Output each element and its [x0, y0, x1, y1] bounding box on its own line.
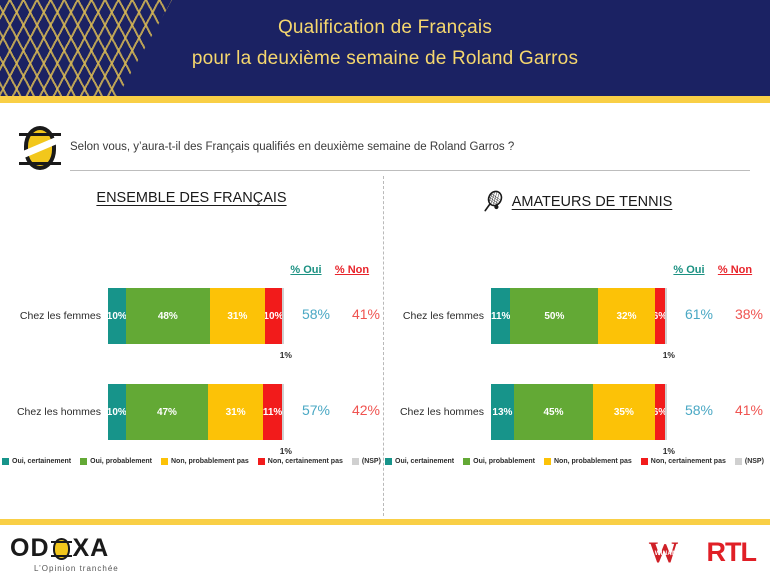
odoxa-shield-bar-top: [19, 133, 61, 136]
panel-ensemble-des-francais: ENSEMBLE DES FRANÇAIS % Oui % Non Chez l…: [0, 176, 383, 476]
legend-label: (NSP): [362, 458, 381, 465]
row-totals: 57% 42%: [284, 384, 386, 418]
bar-segment-oui-probablement: 48%: [126, 288, 210, 344]
bar-segment-non-certainement-pas: 6%: [655, 288, 666, 344]
column-header-non: % Non: [717, 264, 753, 276]
legend-item-nsp: (NSP): [352, 458, 381, 465]
odoxa-shield-icon-small: [51, 536, 72, 561]
nsp-value-label: 1%: [663, 350, 675, 360]
legend-item-oui-certainement: Oui, certainement: [2, 458, 71, 465]
legend-swatch-icon: [258, 458, 265, 465]
bar-segment-nsp: [282, 384, 284, 440]
total-non: 41%: [729, 402, 769, 418]
legend-item-non-certainement-pas: Non, certainement pas: [641, 458, 726, 465]
nsp-value-label: 1%: [280, 350, 292, 360]
bar-segment-oui-certainement: 10%: [108, 288, 126, 344]
partner-logos: W WINAMAX RTL: [649, 537, 756, 568]
legend-swatch-icon: [161, 458, 168, 465]
legend-item-non-probablement-pas: Non, probablement pas: [544, 458, 632, 465]
stacked-bar[interactable]: 10% 47% 31% 11% 1%: [108, 384, 284, 440]
legend-label: Non, certainement pas: [651, 458, 726, 465]
legend-label: Oui, certainement: [12, 458, 71, 465]
question-divider: [70, 170, 750, 171]
winamax-name: WINAMAX: [649, 551, 693, 557]
odoxa-brand-pre: OD: [10, 534, 50, 563]
page-footer: OD XA L’Opinion tranchée W WINAMAX RTL: [0, 525, 770, 575]
odoxa-shield-bar-top-small: [51, 541, 72, 543]
row-totals: 58% 41%: [284, 288, 386, 322]
legend-label: Non, probablement pas: [171, 458, 249, 465]
bar-segment-non-certainement-pas: 11%: [263, 384, 282, 440]
tennis-racket-icon: [481, 190, 505, 214]
column-headers-right: % Oui % Non: [671, 264, 753, 276]
header-accent-rule: [0, 96, 770, 103]
winamax-logo: W WINAMAX: [649, 538, 693, 568]
table-row: Chez les hommes 13% 45% 35% 6% 1% 58% 41…: [397, 384, 769, 450]
table-row: Chez les femmes 10% 48% 31% 10% 1% 58% 4…: [14, 288, 386, 354]
column-header-oui: % Oui: [288, 264, 324, 276]
table-row: Chez les hommes 10% 47% 31% 11% 1% 57% 4…: [14, 384, 386, 450]
total-non: 38%: [729, 306, 769, 322]
legend-label: Oui, probablement: [90, 458, 152, 465]
total-non: 42%: [346, 402, 386, 418]
legend-label: Non, probablement pas: [554, 458, 632, 465]
panel-header-left: ENSEMBLE DES FRANÇAIS: [0, 190, 383, 206]
bar-segment-oui-probablement: 50%: [510, 288, 598, 344]
column-header-oui: % Oui: [671, 264, 707, 276]
table-row: Chez les femmes 11% 50% 32% 6% 1% 61% 38…: [397, 288, 769, 354]
bar-segment-oui-probablement: 47%: [126, 384, 209, 440]
legend-item-non-probablement-pas: Non, probablement pas: [161, 458, 249, 465]
legend-item-oui-probablement: Oui, probablement: [80, 458, 152, 465]
column-headers-left: % Oui % Non: [288, 264, 370, 276]
row-label: Chez les hommes: [14, 384, 108, 418]
row-totals: 58% 41%: [667, 384, 769, 418]
odoxa-brand: OD XA L’Opinion tranchée: [10, 534, 119, 573]
stacked-bar[interactable]: 13% 45% 35% 6% 1%: [491, 384, 667, 440]
odoxa-shield-bar-bottom: [19, 162, 61, 165]
bar-segment-non-certainement-pas: 6%: [655, 384, 666, 440]
legend-label: (NSP): [745, 458, 764, 465]
rtl-logo: RTL: [707, 537, 756, 568]
legend-swatch-icon: [463, 458, 470, 465]
stacked-bar[interactable]: 11% 50% 32% 6% 1%: [491, 288, 667, 344]
nsp-value-label: 1%: [280, 446, 292, 456]
bar-segment-nsp: [282, 288, 284, 344]
survey-question: Selon vous, y’aura-t-il des Français qua…: [70, 141, 514, 153]
odoxa-tagline: L’Opinion tranchée: [10, 564, 119, 573]
bar-segment-oui-certainement: 10%: [108, 384, 126, 440]
nsp-value-label: 1%: [663, 446, 675, 456]
bar-segment-nsp: [665, 384, 667, 440]
legend-item-non-certainement-pas: Non, certainement pas: [258, 458, 343, 465]
row-totals: 61% 38%: [667, 288, 769, 322]
total-non: 41%: [346, 306, 386, 322]
row-label: Chez les hommes: [397, 384, 491, 418]
bar-segment-non-probablement-pas: 32%: [598, 288, 654, 344]
odoxa-brand-post: XA: [73, 534, 110, 563]
legend-swatch-icon: [2, 458, 9, 465]
legend-swatch-icon: [641, 458, 648, 465]
legend-item-oui-certainement: Oui, certainement: [385, 458, 454, 465]
bar-segment-oui-certainement: 11%: [491, 288, 510, 344]
bar-segment-non-probablement-pas: 31%: [208, 384, 263, 440]
panel-amateurs-de-tennis: AMATEURS DE TENNIS % Oui % Non Chez les …: [383, 176, 770, 476]
stacked-bar[interactable]: 10% 48% 31% 10% 1%: [108, 288, 284, 344]
total-oui: 58%: [296, 306, 336, 322]
row-label: Chez les femmes: [14, 288, 108, 322]
legend-label: Oui, certainement: [395, 458, 454, 465]
row-label: Chez les femmes: [397, 288, 491, 322]
legend-label: Non, certainement pas: [268, 458, 343, 465]
column-header-non: % Non: [334, 264, 370, 276]
bar-segment-non-probablement-pas: 31%: [210, 288, 265, 344]
legend-swatch-icon: [385, 458, 392, 465]
panel-title-left: ENSEMBLE DES FRANÇAIS: [96, 190, 286, 206]
bar-segment-nsp: [665, 288, 667, 344]
total-oui: 61%: [679, 306, 719, 322]
odoxa-wordmark: OD XA: [10, 534, 119, 563]
total-oui: 57%: [296, 402, 336, 418]
legend-item-oui-probablement: Oui, probablement: [463, 458, 535, 465]
bar-segment-oui-certainement: 13%: [491, 384, 514, 440]
page-title-line2: pour la deuxième semaine de Roland Garro…: [0, 43, 770, 74]
bar-segment-non-probablement-pas: 35%: [593, 384, 655, 440]
page-title: Qualification de Français pour la deuxiè…: [0, 12, 770, 74]
page-title-line1: Qualification de Français: [278, 17, 492, 38]
total-oui: 58%: [679, 402, 719, 418]
panel-header-right: AMATEURS DE TENNIS: [383, 190, 770, 214]
bar-segment-non-certainement-pas: 10%: [265, 288, 283, 344]
chart-legend-right: Oui, certainement Oui, probablement Non,…: [385, 458, 764, 465]
legend-item-nsp: (NSP): [735, 458, 764, 465]
panel-title-right: AMATEURS DE TENNIS: [512, 194, 673, 210]
legend-swatch-icon: [735, 458, 742, 465]
legend-swatch-icon: [544, 458, 551, 465]
page-header: Qualification de Français pour la deuxiè…: [0, 0, 770, 96]
odoxa-shield-icon: [18, 122, 62, 174]
legend-swatch-icon: [80, 458, 87, 465]
legend-swatch-icon: [352, 458, 359, 465]
chart-legend-left: Oui, certainement Oui, probablement Non,…: [2, 458, 381, 465]
legend-label: Oui, probablement: [473, 458, 535, 465]
bar-segment-oui-probablement: 45%: [514, 384, 593, 440]
odoxa-shield-bar-bottom-small: [51, 555, 72, 557]
